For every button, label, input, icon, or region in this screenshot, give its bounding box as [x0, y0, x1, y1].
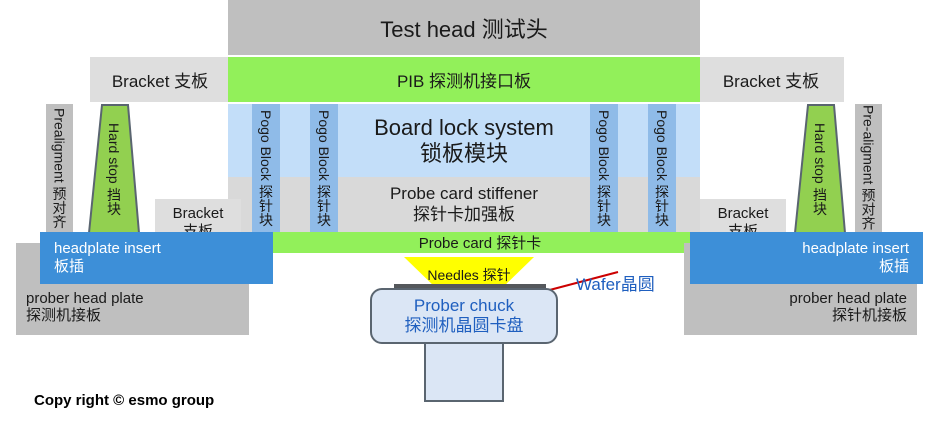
prober-head-plate-right-label-wrap: prober head plate 探针机接板 — [789, 290, 907, 325]
board-lock-label-line2: 锁板模块 — [420, 141, 508, 167]
bracket-outer-right-label: Bracket 支板 — [723, 67, 819, 92]
hard-stop-right-label: Hard stop 挡块 — [810, 123, 830, 216]
headplate-insert-left-line1: headplate insert — [54, 240, 161, 258]
probe-card-stiffener: Probe card stiffener 探针卡加强板 — [228, 177, 700, 232]
test-head-bar: Test head 测试头 — [228, 0, 700, 55]
prober-head-plate-right-line1: prober head plate — [789, 290, 907, 308]
hard-stop-right: Hard stop 挡块 — [794, 104, 846, 234]
prober-head-plate-right-line2: 探针机接板 — [789, 307, 907, 325]
prober-head-plate-left-label-wrap: prober head plate 探测机接板 — [26, 290, 144, 325]
probe-card-bar: Probe card 探针卡 — [256, 232, 704, 253]
wafer-callout-label: Wafer晶圆 — [576, 270, 655, 295]
headplate-insert-right-line2: 板插 — [802, 258, 909, 276]
prober-chuck-line1: Prober chuck — [414, 296, 514, 316]
chuck-pedestal — [424, 342, 504, 402]
prober-head-plate-left-line2: 探测机接板 — [26, 307, 144, 325]
needles-label: Needles 探针 — [427, 267, 510, 283]
pogo-block-2: Pogo Block 探针块 — [310, 104, 338, 232]
bracket-inner-left-line1: Bracket — [173, 205, 224, 223]
hard-stop-right-label-wrap: Hard stop 挡块 — [794, 104, 846, 234]
pogo-block-3: Pogo Block 探针块 — [590, 104, 618, 232]
prober-chuck-line2: 探测机晶圆卡盘 — [405, 316, 524, 336]
board-lock-system: Board lock system 锁板模块 — [228, 104, 700, 177]
prealignment-left-label: Prealigment 预对齐 — [50, 108, 70, 229]
headplate-insert-right-line1: headplate insert — [802, 240, 909, 258]
needles-label-wrap: Needles 探针 — [404, 265, 534, 285]
pogo-block-1-label: Pogo Block 探针块 — [256, 110, 276, 227]
headplate-insert-right-label-wrap: headplate insert 板插 — [802, 240, 909, 275]
hard-stop-left: Hard stop 挡块 — [88, 104, 140, 234]
headplate-insert-left: headplate insert 板插 — [40, 232, 273, 284]
stiffener-label-line1: Probe card stiffener — [390, 184, 538, 204]
stiffener-label-wrap: Probe card stiffener 探针卡加强板 — [228, 177, 700, 232]
test-head-label: Test head 测试头 — [380, 12, 548, 44]
hard-stop-left-label-wrap: Hard stop 挡块 — [88, 104, 140, 234]
stiffener-label-line2: 探针卡加强板 — [413, 205, 515, 225]
bracket-outer-left: Bracket 支板 — [90, 57, 230, 102]
copyright-notice: Copy right © esmo group — [34, 392, 214, 409]
probe-card-label: Probe card 探针卡 — [419, 232, 542, 253]
diagram-canvas: Bracket 支板 Bracket 支板 Test head 测试头 PIB … — [0, 0, 933, 423]
pogo-block-1: Pogo Block 探针块 — [252, 104, 280, 232]
pogo-block-2-label: Pogo Block 探针块 — [314, 110, 334, 227]
prealignment-right-label: Pre-aligment 预对齐 — [859, 105, 879, 230]
board-lock-label-wrap: Board lock system 锁板模块 — [228, 104, 700, 177]
prealignment-left: Prealigment 预对齐 — [46, 104, 73, 232]
bracket-outer-left-label: Bracket 支板 — [112, 67, 208, 92]
prober-chuck-label-wrap: Prober chuck 探测机晶圆卡盘 — [372, 290, 556, 342]
headplate-insert-right: headplate insert 板插 — [690, 232, 923, 284]
pib-label: PIB 探测机接口板 — [397, 67, 531, 92]
prober-chuck: Prober chuck 探测机晶圆卡盘 — [370, 288, 558, 344]
bracket-outer-right: Bracket 支板 — [698, 57, 844, 102]
pogo-block-3-label: Pogo Block 探针块 — [594, 110, 614, 227]
headplate-insert-left-line2: 板插 — [54, 258, 161, 276]
headplate-insert-left-label-wrap: headplate insert 板插 — [54, 240, 161, 275]
pogo-block-4-label: Pogo Block 探针块 — [652, 110, 672, 227]
hard-stop-left-label: Hard stop 挡块 — [104, 123, 124, 216]
board-lock-label-line1: Board lock system — [374, 115, 554, 141]
prealignment-right: Pre-aligment 预对齐 — [855, 104, 882, 232]
prober-head-plate-left-line1: prober head plate — [26, 290, 144, 308]
bracket-inner-right-line1: Bracket — [718, 205, 769, 223]
pogo-block-4: Pogo Block 探针块 — [648, 104, 676, 232]
pib-bar: PIB 探测机接口板 — [228, 57, 700, 102]
